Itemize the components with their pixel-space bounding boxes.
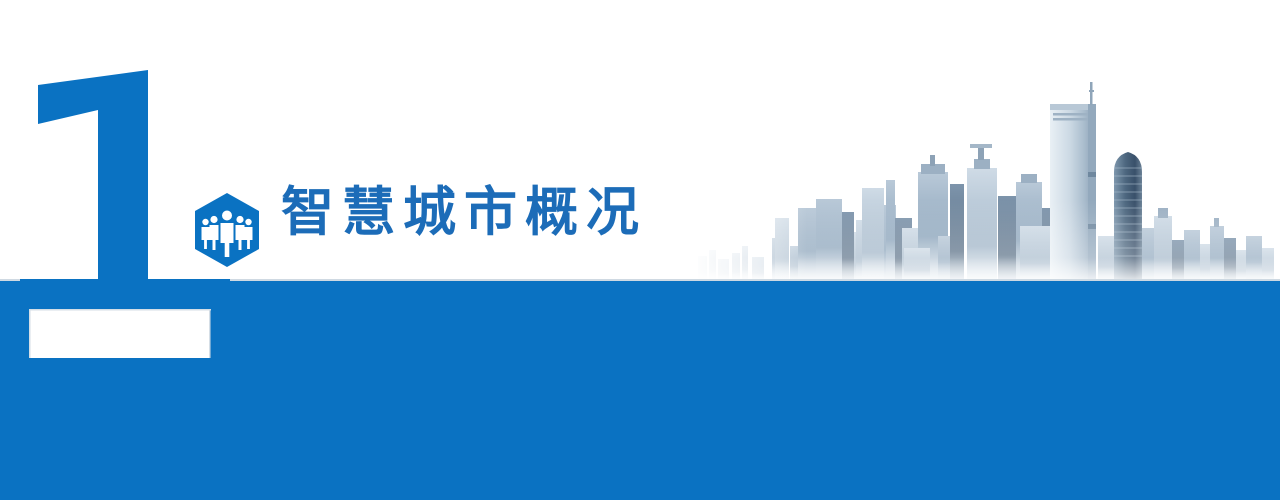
slide-canvas: 智慧城市的定义 智慧城市建设历程 智慧城市五类参与者 [0,0,1280,500]
reflection-fade-overlay [690,279,1280,409]
people-group-hexagon-icon [189,191,265,269]
page-title: 智慧城市概况 [281,186,647,239]
city-skyline-photo [690,60,1280,280]
